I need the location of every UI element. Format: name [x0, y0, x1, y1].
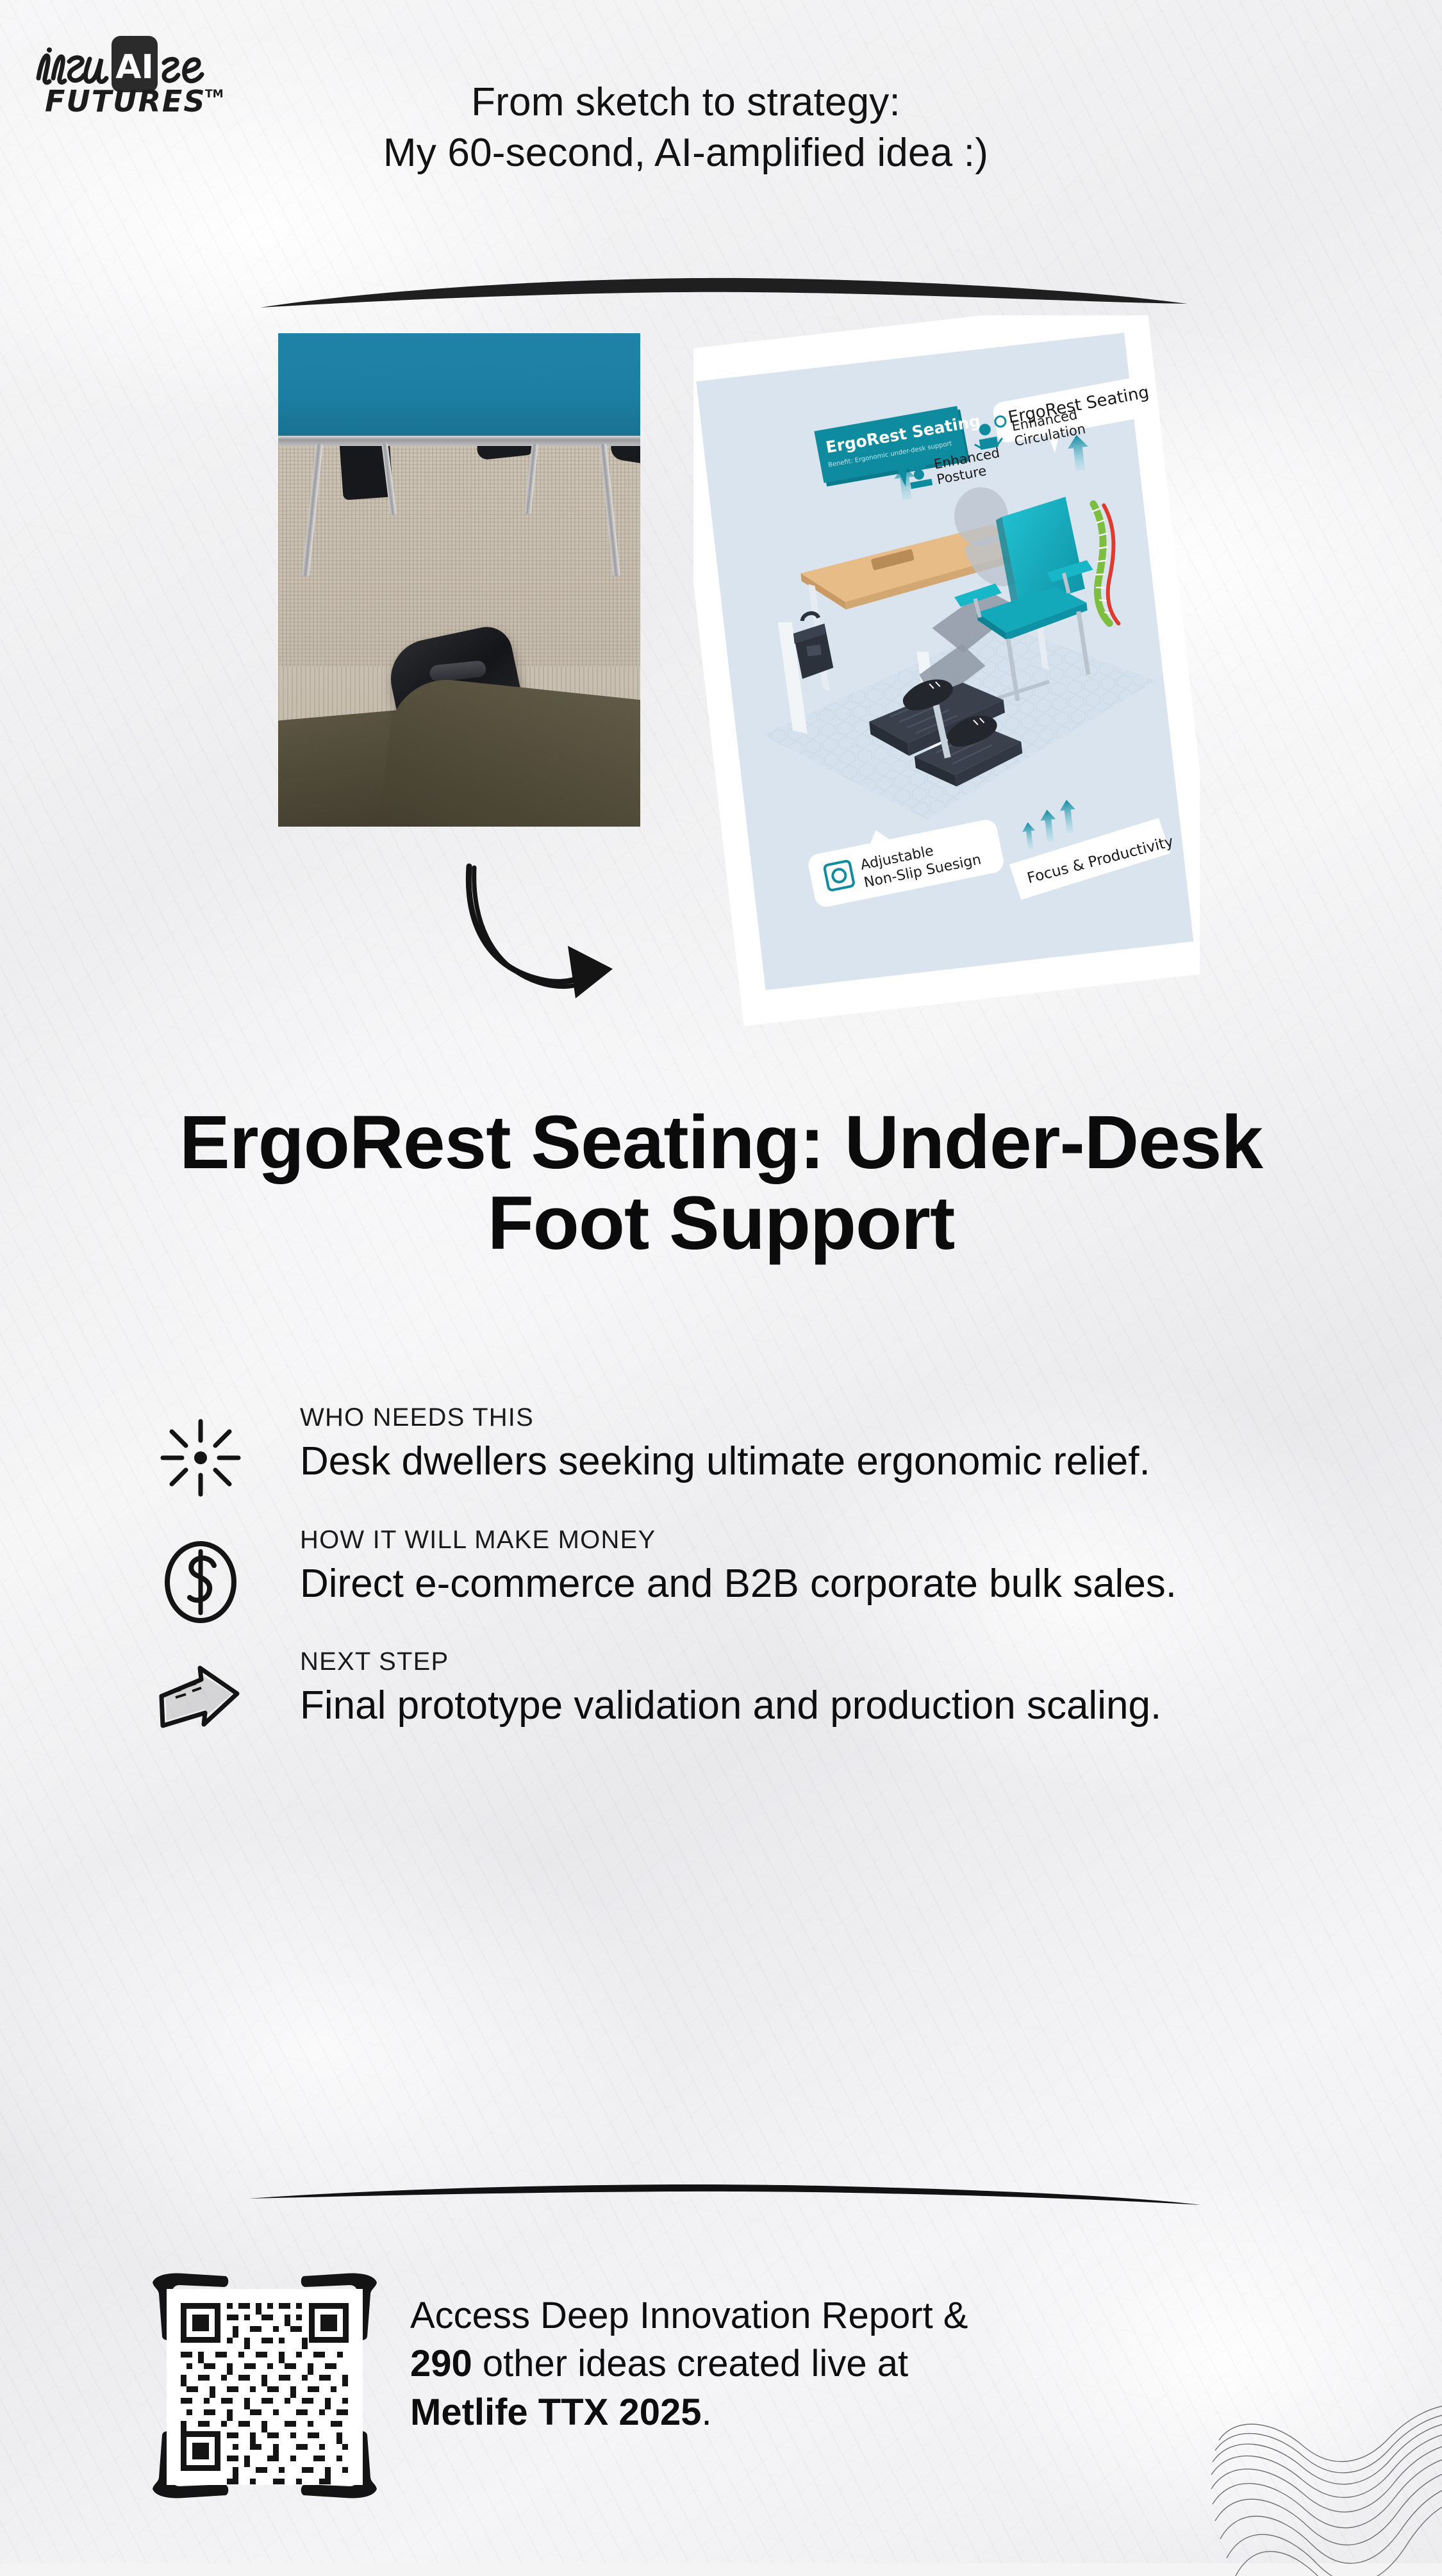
footer-period: . — [701, 2391, 711, 2433]
section-text: Final prototype validation and productio… — [300, 1681, 1351, 1730]
page-title: ErgoRest Seating: Under-Desk Foot Suppor… — [96, 1102, 1346, 1264]
footer-idea-count: 290 — [410, 2343, 472, 2384]
section-text: Desk dwellers seeking ultimate ergonomic… — [300, 1437, 1351, 1486]
divider-bottom — [244, 2150, 1205, 2227]
footer-cta-text: Access Deep Innovation Report & 290 othe… — [410, 2291, 1256, 2436]
wave-decoration — [1160, 2332, 1442, 2576]
header-line-2: My 60-second, AI-amplified idea :) — [211, 128, 1160, 178]
section-kicker: NEXT STEP — [300, 1647, 1351, 1676]
section-text: Direct e-commerce and B2B corporate bulk… — [300, 1560, 1351, 1608]
section-kicker: WHO NEEDS THIS — [300, 1403, 1351, 1432]
dollar-circle-icon — [153, 1532, 249, 1628]
pov-desk-photo — [278, 333, 640, 827]
section-next-step: NEXT STEP Final prototype validation and… — [0, 1647, 1442, 1730]
section-kicker: HOW IT WILL MAKE MONEY — [300, 1526, 1351, 1555]
product-illustration-card: ErgoRest Seating Benefit: Ergonomic unde… — [693, 315, 1200, 1027]
section-who-needs-this: WHO NEEDS THIS Desk dwellers seeking ult… — [0, 1403, 1442, 1486]
footer-line-2-rest: other ideas created live at — [472, 2343, 908, 2384]
svg-text:FUTURES: FUTURES — [45, 84, 206, 117]
footer-line-1: Access Deep Innovation Report & — [410, 2295, 968, 2336]
infographic-page: AI FUTURES TM From sketch to strategy: M… — [0, 0, 1442, 2563]
spark-icon — [153, 1410, 249, 1506]
header-tagline: From sketch to strategy: My 60-second, A… — [211, 77, 1160, 179]
section-how-it-makes-money: HOW IT WILL MAKE MONEY Direct e-commerce… — [0, 1526, 1442, 1608]
qr-code[interactable] — [146, 2261, 383, 2511]
arrow-right-icon — [153, 1654, 249, 1750]
header-line-1: From sketch to strategy: — [211, 77, 1160, 128]
footer-event-name: Metlife TTX 2025 — [410, 2391, 701, 2433]
svg-text:AI: AI — [115, 48, 154, 87]
curved-arrow-icon — [442, 827, 699, 1057]
info-sections: WHO NEEDS THIS Desk dwellers seeking ult… — [0, 1403, 1442, 1770]
